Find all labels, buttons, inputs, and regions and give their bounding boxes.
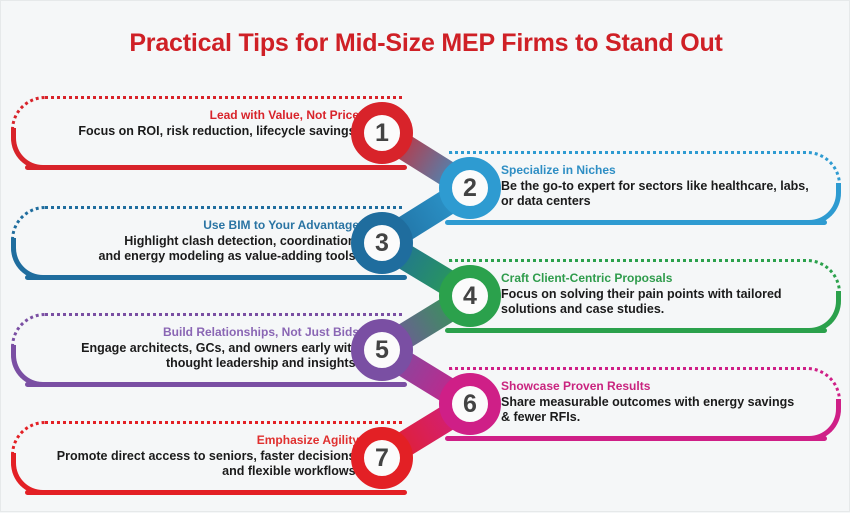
step-card-4[interactable]: Craft Client-Centric ProposalsFocus on s… [449,259,841,333]
step-heading: Use BIM to Your Advantage [33,218,359,233]
step-text-block: Use BIM to Your AdvantageHighlight clash… [33,218,359,264]
step-card-underline [25,382,407,387]
step-body: Share measurable outcomes with energy sa… [501,395,819,425]
step-card-underline [445,220,827,225]
step-body: Highlight clash detection, coordination,… [33,234,359,264]
step-body: Be the go-to expert for sectors like hea… [501,179,819,209]
step-text-block: Emphasize AgilityPromote direct access t… [33,433,359,479]
step-body: Promote direct access to seniors, faster… [33,449,359,479]
step-text-block: Build Relationships, Not Just BidsEngage… [33,325,359,371]
step-heading: Specialize in Niches [501,163,819,178]
step-card-underline [445,328,827,333]
step-text-block: Specialize in NichesBe the go-to expert … [501,163,819,209]
step-heading: Showcase Proven Results [501,379,819,394]
infographic-canvas: Practical Tips for Mid-Size MEP Firms to… [0,0,850,512]
step-card-underline [25,490,407,495]
step-body: Focus on ROI, risk reduction, lifecycle … [33,124,359,139]
step-card-underline [25,275,407,280]
step-heading: Craft Client-Centric Proposals [501,271,819,286]
step-body: Engage architects, GCs, and owners early… [33,341,359,371]
step-heading: Lead with Value, Not Price [33,108,359,123]
step-text-block: Showcase Proven ResultsShare measurable … [501,379,819,425]
page-title: Practical Tips for Mid-Size MEP Firms to… [1,29,850,58]
step-heading: Build Relationships, Not Just Bids [33,325,359,340]
step-card-5[interactable]: Build Relationships, Not Just BidsEngage… [11,313,403,387]
step-card-2[interactable]: Specialize in NichesBe the go-to expert … [449,151,841,225]
step-body: Focus on solving their pain points with … [501,287,819,317]
step-card-3[interactable]: Use BIM to Your AdvantageHighlight clash… [11,206,403,280]
step-heading: Emphasize Agility [33,433,359,448]
step-card-1[interactable]: Lead with Value, Not PriceFocus on ROI, … [11,96,403,170]
step-card-underline [25,165,407,170]
step-card-7[interactable]: Emphasize AgilityPromote direct access t… [11,421,403,495]
step-text-block: Craft Client-Centric ProposalsFocus on s… [501,271,819,317]
step-card-underline [445,436,827,441]
step-text-block: Lead with Value, Not PriceFocus on ROI, … [33,108,359,139]
step-card-6[interactable]: Showcase Proven ResultsShare measurable … [449,367,841,441]
